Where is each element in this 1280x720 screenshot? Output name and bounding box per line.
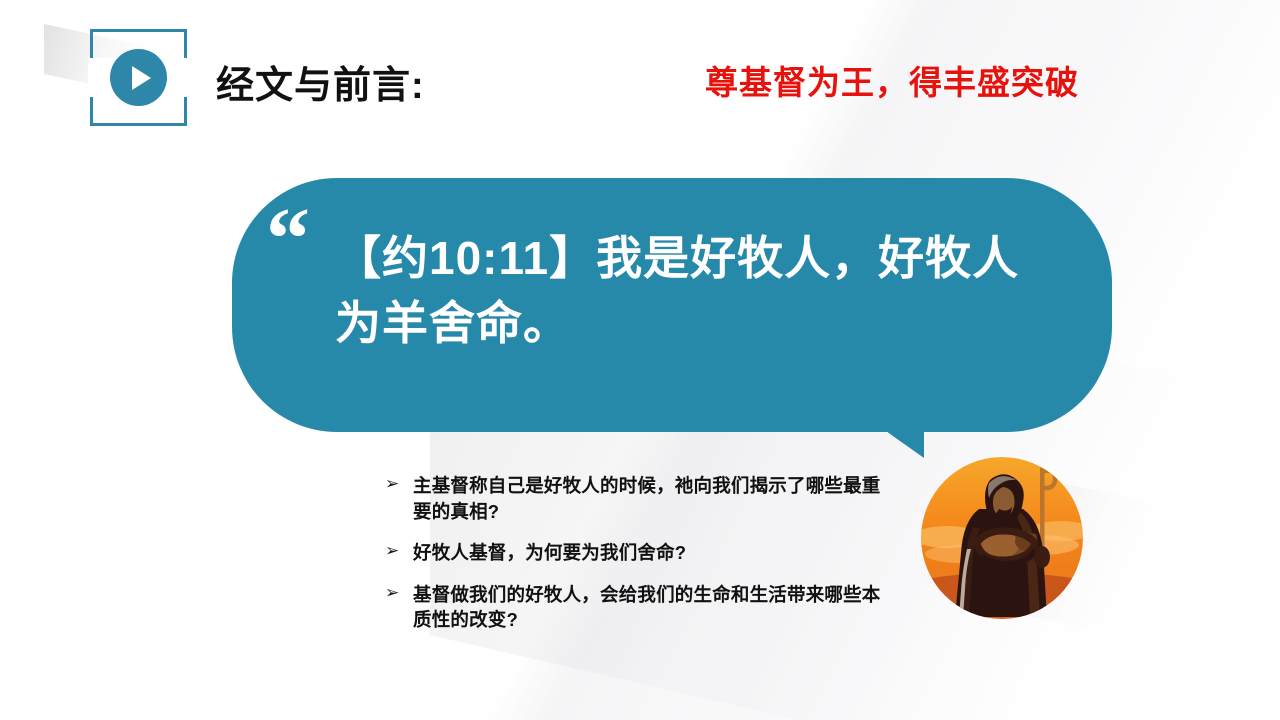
play-triangle-icon (132, 66, 151, 90)
question-list: ➢ 主基督称自己是好牧人的时候，祂向我们揭示了哪些最重要的真相? ➢ 好牧人基督… (385, 473, 885, 649)
play-button-icon (110, 49, 167, 106)
good-shepherd-illustration (921, 457, 1083, 619)
page-title: 经文与前言: (216, 54, 425, 109)
slide-canvas: 经文与前言: 尊基督为王，得丰盛突破 “ 【约10:11】我是好牧人，好牧人为羊… (0, 0, 1280, 720)
arrow-bullet-icon: ➢ (385, 473, 413, 496)
quote-bubble-tail (876, 424, 924, 458)
list-item-label: 主基督称自己是好牧人的时候，祂向我们揭示了哪些最重要的真相? (413, 473, 885, 524)
quotation-mark-icon: “ (266, 196, 310, 284)
list-item: ➢ 主基督称自己是好牧人的时候，祂向我们揭示了哪些最重要的真相? (385, 473, 885, 524)
list-item-label: 好牧人基督，为何要为我们舍命? (413, 540, 885, 566)
page-subtitle: 尊基督为王，得丰盛突破 (705, 56, 1079, 104)
arrow-bullet-icon: ➢ (385, 582, 413, 605)
shepherd-svg (921, 457, 1083, 619)
arrow-bullet-icon: ➢ (385, 540, 413, 563)
list-item-label: 基督做我们的好牧人，会给我们的生命和生活带来哪些本质性的改变? (413, 582, 885, 633)
scripture-quote-text: 【约10:11】我是好牧人，好牧人为羊舍命。 (335, 226, 1065, 357)
logo-mark (90, 29, 187, 126)
list-item: ➢ 好牧人基督，为何要为我们舍命? (385, 540, 885, 566)
list-item: ➢ 基督做我们的好牧人，会给我们的生命和生活带来哪些本质性的改变? (385, 582, 885, 633)
